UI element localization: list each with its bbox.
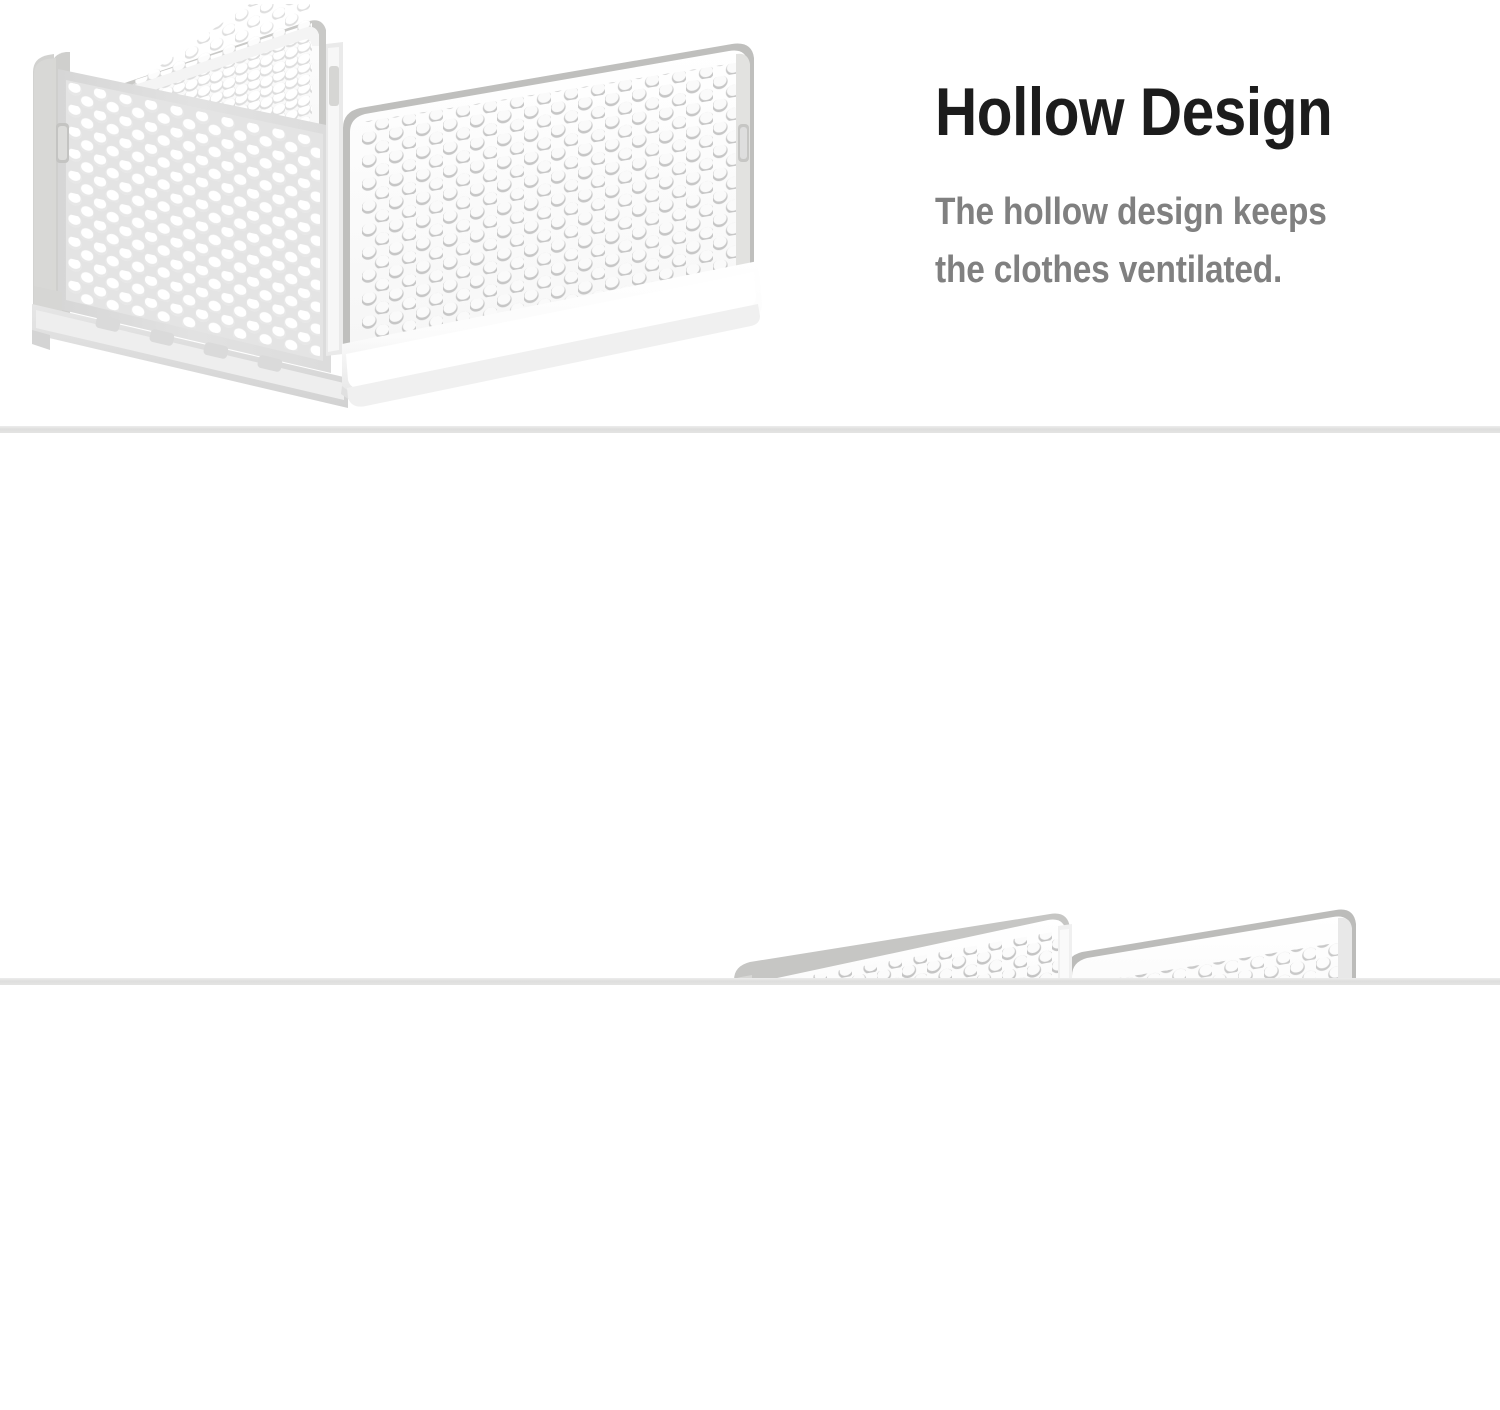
section-hollow-design: Hollow Design The hollow design keeps th… <box>0 0 1500 426</box>
section-divider-2 <box>0 978 1500 985</box>
body-line: the clothes ventilated. <box>935 242 1481 300</box>
section-divider-1 <box>0 426 1500 433</box>
drawer-corner-post <box>326 42 343 356</box>
body-line: The hollow design keeps <box>935 184 1481 242</box>
section-reinforced-snap: Reinforced Snap Reinforced buckles to in… <box>0 985 1500 1410</box>
section-slide-rails: Slide Rails Stable stacking and easy sli… <box>0 433 1500 978</box>
infographic-page: Hollow Design The hollow design keeps th… <box>0 0 1500 1410</box>
text-block-hollow-design: Hollow Design The hollow design keeps th… <box>935 78 1500 300</box>
product-image-hollow-design <box>10 4 830 420</box>
heading-hollow-design: Hollow Design <box>935 78 1468 146</box>
body-hollow-design: The hollow design keeps the clothes vent… <box>935 184 1481 300</box>
